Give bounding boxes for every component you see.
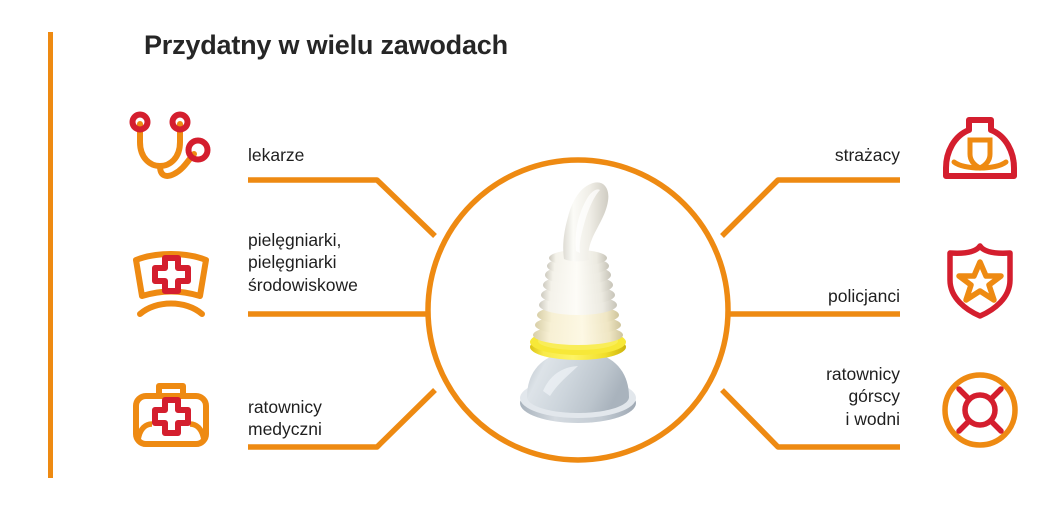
connector-left-top (248, 180, 435, 236)
label-nurses: pielęgniarki, pielęgniarki środowiskowe (248, 229, 358, 296)
icon-stethoscope (128, 108, 220, 188)
device-mask-dome (527, 351, 629, 413)
firefighter-helmet-icon (936, 110, 1028, 190)
label-firefighters: strażacy (835, 144, 900, 166)
label-police: policjanci (828, 285, 900, 307)
icon-life-ring (936, 370, 1028, 450)
page-title: Przydatny w wielu zawodach (144, 30, 508, 61)
police-badge-icon (936, 240, 1028, 320)
label-rescuers: ratownicy górscy i wodni (826, 363, 900, 430)
icon-nurse-cap (128, 246, 220, 326)
icon-firefighter-helmet (936, 110, 1028, 190)
device-handle (563, 182, 608, 261)
stethoscope-icon (128, 108, 220, 188)
icon-medical-bag (128, 376, 220, 456)
medical-bag-icon (128, 376, 220, 456)
connector-right-top (722, 180, 900, 236)
nurse-cap-icon (128, 246, 220, 326)
life-ring-icon (936, 370, 1028, 450)
infographic-root: Przydatny w wielu zawodach (0, 0, 1043, 518)
anti-choking-device-image (498, 175, 658, 435)
icon-police-badge (936, 240, 1028, 320)
label-paramedics: ratownicy medyczni (248, 396, 322, 441)
device-bellows (533, 250, 623, 345)
vertical-accent-bar (48, 32, 53, 478)
label-doctors: lekarze (248, 144, 304, 166)
